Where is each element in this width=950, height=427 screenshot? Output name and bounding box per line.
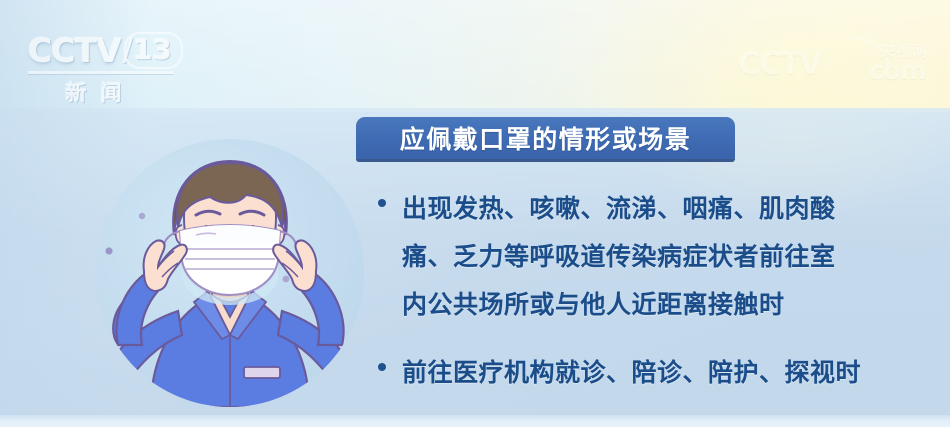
watermark-com-text: com — [869, 56, 926, 86]
bullet-list: 出现发热、咳嗽、流涕、咽痛、肌肉酸 痛、乏力等呼吸道传染病症状者前往室 内公共场… — [378, 185, 938, 417]
bullet-line: 痛、乏力等呼吸道传染病症状者前往室 — [402, 233, 938, 281]
cctv-wordmark: CCTV — [28, 31, 121, 70]
broadcast-graphic-screen: CCTV / 13 新闻 CCTV 央视网 com — [0, 0, 950, 427]
bullet-line: 出现发热、咳嗽、流涕、咽痛、肌肉酸 — [402, 185, 938, 233]
bullet-text-block: 前往医疗机构就诊、陪诊、陪护、探视时 — [402, 349, 938, 397]
channel-number: 13 — [124, 32, 183, 69]
illustration-clip — [96, 139, 364, 407]
bullet-text-block: 出现发热、咳嗽、流涕、咽痛、肌肉酸 痛、乏力等呼吸道传染病症状者前往室 内公共场… — [402, 185, 938, 329]
cctv-com-watermark: CCTV 央视网 com — [738, 38, 928, 90]
page-title: 应佩戴口罩的情形或场景 — [400, 120, 692, 156]
channel-name-cn: 新闻 — [28, 77, 173, 107]
cctv-logo-underline — [28, 71, 173, 74]
person-wearing-mask-icon — [96, 139, 364, 407]
list-item: 出现发热、咳嗽、流涕、咽痛、肌肉酸 痛、乏力等呼吸道传染病症状者前往室 内公共场… — [378, 185, 938, 329]
bullet-dot-icon — [378, 199, 386, 207]
list-item: 前往医疗机构就诊、陪诊、陪护、探视时 — [378, 349, 938, 397]
bullet-line: 前往医疗机构就诊、陪诊、陪护、探视时 — [402, 349, 938, 397]
title-banner: 应佩戴口罩的情形或场景 — [356, 117, 735, 159]
bullet-dot-icon — [378, 363, 386, 371]
mask-illustration — [96, 139, 364, 407]
cctv13-channel-logo: CCTV / 13 新闻 — [28, 30, 208, 106]
bullet-line: 内公共场所或与他人近距离接触时 — [402, 281, 938, 329]
watermark-cctv-text: CCTV — [738, 46, 821, 82]
cctv13-logo-row: CCTV / 13 — [28, 30, 208, 70]
